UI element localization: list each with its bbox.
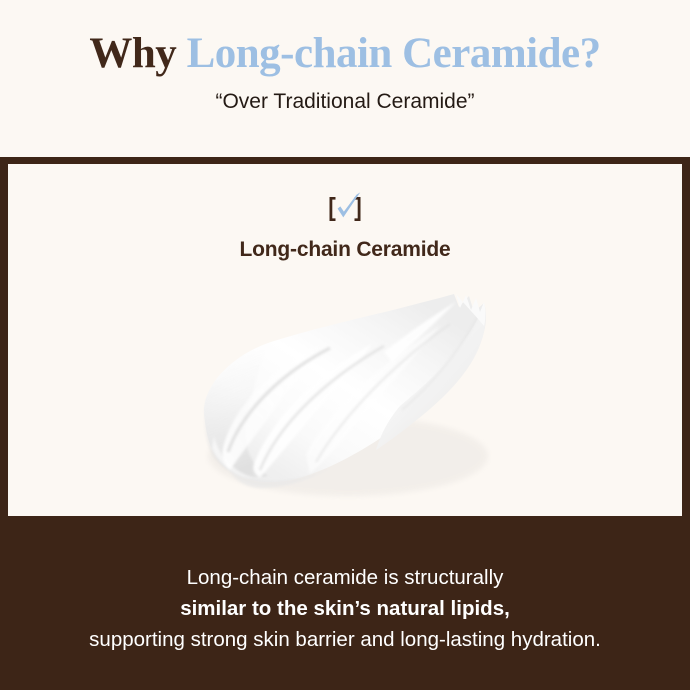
page-title-accent: Long-chain Ceramide? [187, 30, 601, 77]
cream-texture-swatch [188, 286, 518, 501]
page-title-prefix: Why [89, 30, 186, 77]
panel-icon-row [8, 190, 682, 226]
page-subtitle: “Over Traditional Ceramide” [215, 89, 474, 115]
content-panel: Long-chain Ceramide [8, 164, 682, 516]
header-section: Why Long-chain Ceramide? “Over Tradition… [0, 0, 690, 157]
bracketed-checkmark-icon [322, 190, 368, 226]
description-line-1: Long-chain ceramide is structurally [187, 562, 504, 593]
poster-root: Why Long-chain Ceramide? “Over Tradition… [0, 0, 690, 690]
bottom-description: Long-chain ceramide is structurally simi… [0, 516, 690, 690]
description-line-3: supporting strong skin barrier and long-… [89, 624, 601, 655]
description-line-2: similar to the skin’s natural lipids, [180, 593, 510, 624]
page-title: Why Long-chain Ceramide? [89, 29, 600, 79]
panel-label: Long-chain Ceramide [8, 236, 682, 264]
